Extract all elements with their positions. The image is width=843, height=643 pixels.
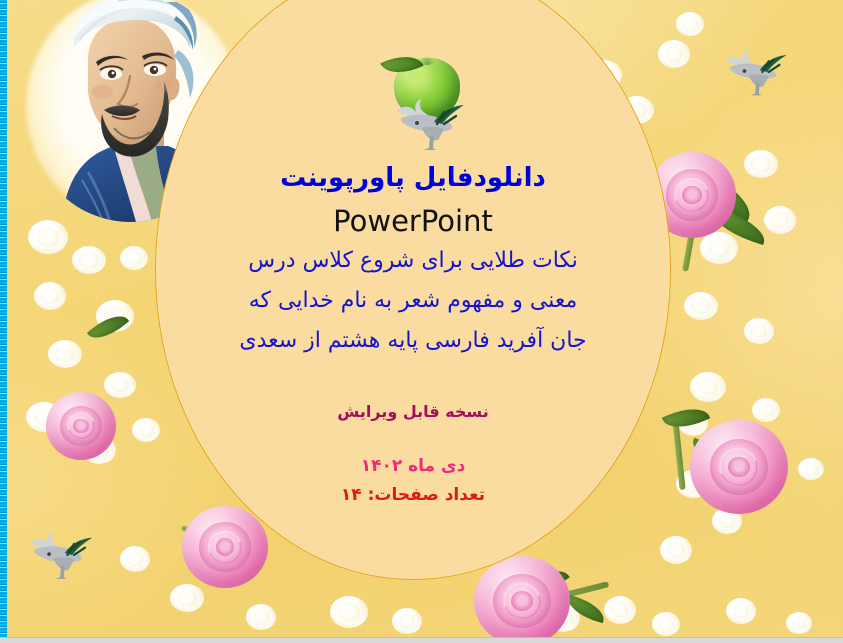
rose-left-lower [46,392,116,460]
slide-title-farsi: دانلودفایل پاورپوینت [155,164,671,193]
body-line-1: نکات طلایی برای شروع کلاس درس [155,248,671,275]
babysbreath-cluster [104,372,136,398]
rose-right-lower [690,420,788,514]
babysbreath-cluster [48,340,82,368]
babysbreath-cluster [726,598,756,624]
babysbreath-cluster [764,206,796,234]
presentation-slide: دانلودفایل پاورپوینت PowerPoint نکات طلا… [0,0,843,643]
bottom-gray-bar [0,637,843,643]
dove-olive-branch-bottom-left-icon [26,528,98,582]
babysbreath-cluster [34,282,66,310]
babysbreath-cluster [72,246,106,274]
left-edge-strip [0,0,7,638]
babysbreath-cluster [752,398,780,422]
babysbreath-cluster [700,232,738,264]
dove-olive-branch-top-right-icon [722,46,792,98]
babysbreath-cluster [744,318,774,344]
babysbreath-cluster [120,546,150,572]
page-count-label: تعداد صفحات: ۱۴ [155,485,671,505]
publication-date: دی ماه ۱۴۰۲ [155,456,671,476]
slide-title-english: PowerPoint [155,205,671,238]
babysbreath-cluster [798,458,824,480]
body-line-3: جان آفرید فارسی پایه هشتم از سعدی [155,328,671,355]
babysbreath-cluster [676,12,704,36]
babysbreath-cluster [120,246,148,270]
babysbreath-cluster [744,150,778,178]
body-line-2: معنی و مفهوم شعر به نام خدایی که [155,288,671,315]
babysbreath-cluster [786,612,812,634]
babysbreath-cluster [28,220,68,254]
babysbreath-cluster [690,372,726,402]
dove-olive-branch-top-center-icon [392,96,470,152]
editable-version-note: نسخه قابل ویرایش [155,402,671,421]
babysbreath-cluster [684,292,718,320]
